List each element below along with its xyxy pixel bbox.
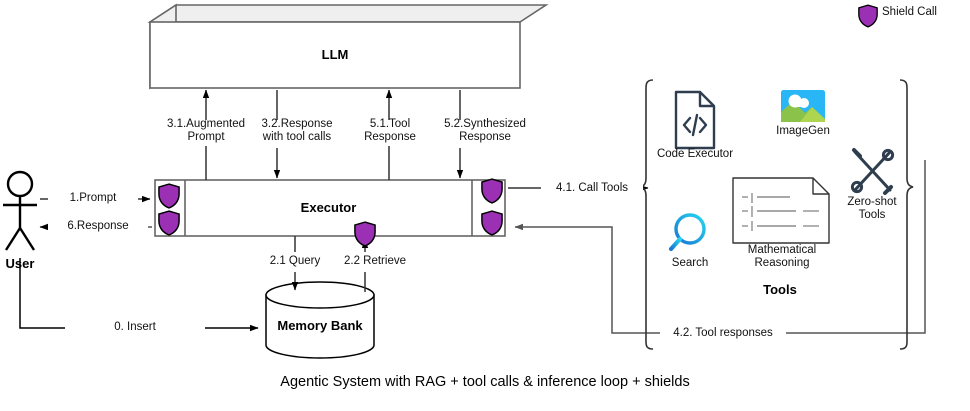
tool-label-zero-shot-tools: Zero-shot Tools	[833, 196, 911, 222]
tool-label-imagegen: ImageGen	[763, 125, 843, 138]
image-picture-icon	[781, 90, 825, 122]
tool-label-search: Search	[655, 257, 725, 270]
shield-legend-icon	[859, 5, 877, 27]
flow-label-retrieve: 2.2 Retrieve	[330, 255, 420, 268]
magnifier-icon	[671, 215, 704, 249]
flow-label-response-tool-calls: 3.2.Response with tool calls	[236, 118, 358, 144]
flow-label-insert: 0. Insert	[65, 321, 205, 334]
flow-label-query: 2.1 Query	[255, 255, 335, 268]
tools-group-left-brace	[640, 80, 653, 349]
user-label: User	[0, 256, 50, 271]
executor-label: Executor	[185, 200, 472, 215]
flow-label-response: 6.Response	[48, 220, 148, 233]
tool-label-math-reasoning: Mathematical Reasoning	[736, 244, 828, 270]
crossed-wrenches-icon	[852, 150, 892, 193]
flow-label-prompt: 1.Prompt	[48, 192, 138, 205]
code-document-icon	[676, 92, 714, 148]
llm-label: LLM	[150, 47, 520, 62]
formula-document-icon	[733, 178, 829, 243]
legend-shield-label: Shield Call	[882, 6, 937, 18]
flow-label-synthesized-response: 5.2.Synthesized Response	[423, 118, 547, 144]
user-actor	[3, 172, 37, 250]
tools-group-label: Tools	[700, 282, 860, 297]
flow-label-call-tools: 4.1. Call Tools	[541, 182, 643, 195]
diagram-caption: Agentic System with RAG + tool calls & i…	[0, 374, 970, 390]
shield-memory-retrieve	[355, 222, 375, 246]
flow-insert-arrow	[20, 258, 258, 328]
flow-label-tool-responses: 4.2. Tool responses	[660, 327, 786, 340]
tool-label-code-executor: Code Executor	[645, 148, 745, 161]
memory-bank-label: Memory Bank	[266, 318, 374, 333]
diagram-canvas: LLM Executor Memory Bank User Tools 0. I…	[0, 0, 970, 411]
